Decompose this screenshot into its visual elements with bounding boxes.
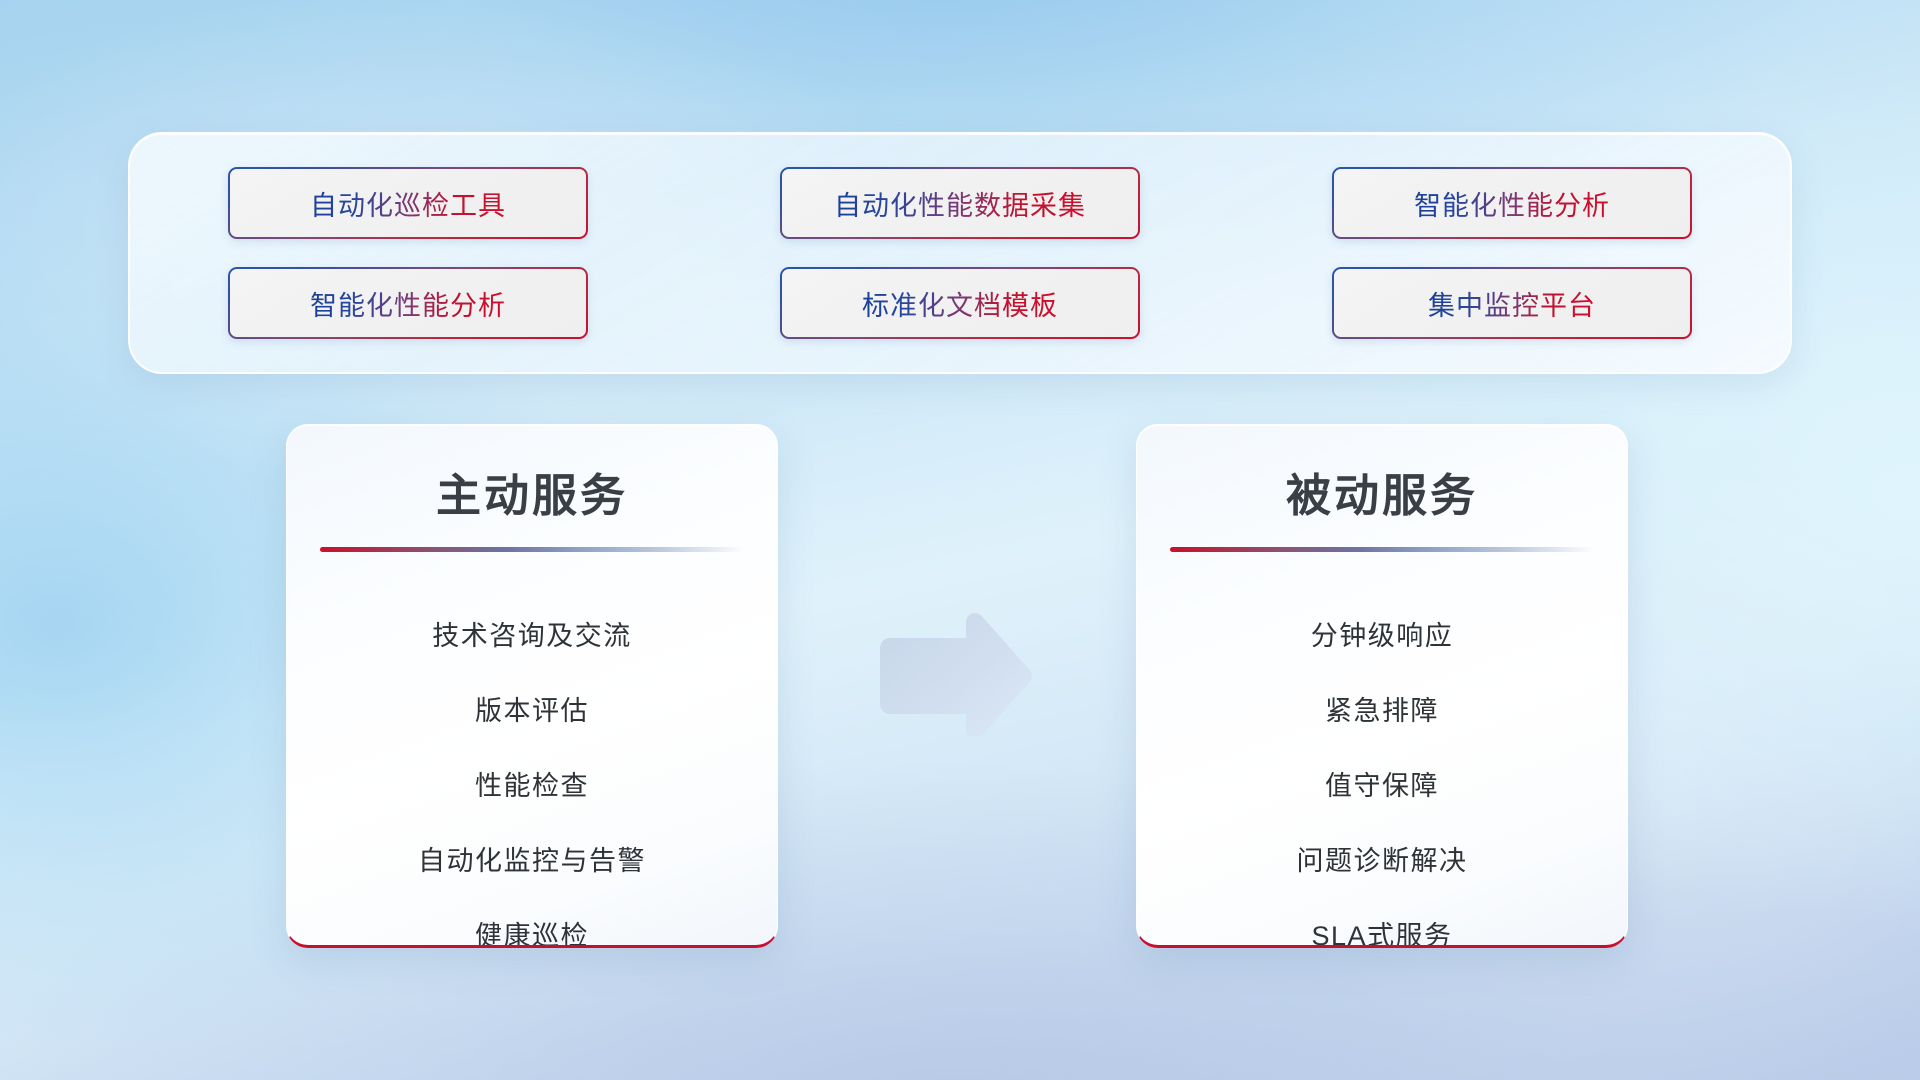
- capability-chip-6[interactable]: 集中监控平台: [1332, 267, 1692, 339]
- capability-chip-label: 智能化性能分析: [1414, 184, 1610, 223]
- list-item: 问题诊断解决: [1137, 821, 1627, 896]
- capability-chip-5[interactable]: 标准化文档模板: [780, 267, 1140, 339]
- capability-chip-grid: 自动化巡检工具 自动化性能数据采集 智能化性能分析 智能化性能分析 标准化文档模…: [224, 160, 1696, 346]
- capability-chip-label: 标准化文档模板: [862, 284, 1058, 323]
- capability-chip-label: 自动化性能数据采集: [834, 184, 1086, 223]
- capability-chip-4[interactable]: 智能化性能分析: [228, 267, 588, 339]
- chip-inner: 智能化性能分析: [1334, 169, 1690, 237]
- capability-chip-1[interactable]: 自动化巡检工具: [228, 167, 588, 239]
- service-item-list: 分钟级响应 紧急排障 值守保障 问题诊断解决 SLA式服务: [1137, 552, 1627, 948]
- capability-chip-label: 集中监控平台: [1428, 284, 1596, 323]
- capability-chip-2[interactable]: 自动化性能数据采集: [780, 167, 1140, 239]
- chip-inner: 自动化巡检工具: [230, 169, 586, 237]
- capability-panel: 自动化巡检工具 自动化性能数据采集 智能化性能分析 智能化性能分析 标准化文档模…: [128, 132, 1792, 374]
- list-item: 性能检查: [287, 746, 777, 821]
- list-item: 技术咨询及交流: [287, 596, 777, 671]
- service-card-proactive: 主动服务 技术咨询及交流 版本评估 性能检查 自动化监控与告警 健康巡检: [286, 424, 778, 948]
- list-item: 自动化监控与告警: [287, 821, 777, 896]
- list-item: 值守保障: [1137, 746, 1627, 821]
- capability-chip-label: 智能化性能分析: [310, 284, 506, 323]
- list-item: 版本评估: [287, 671, 777, 746]
- service-card-reactive: 被动服务 分钟级响应 紧急排障 值守保障 问题诊断解决 SLA式服务: [1136, 424, 1628, 948]
- chip-inner: 自动化性能数据采集: [782, 169, 1138, 237]
- card-title: 主动服务: [287, 459, 777, 524]
- chip-inner: 标准化文档模板: [782, 269, 1138, 337]
- list-item: SLA式服务: [1137, 896, 1627, 948]
- list-item: 健康巡检: [287, 896, 777, 948]
- chip-inner: 集中监控平台: [1334, 269, 1690, 337]
- capability-chip-3[interactable]: 智能化性能分析: [1332, 167, 1692, 239]
- capability-chip-label: 自动化巡检工具: [310, 184, 506, 223]
- list-item: 分钟级响应: [1137, 596, 1627, 671]
- service-item-list: 技术咨询及交流 版本评估 性能检查 自动化监控与告警 健康巡检: [287, 552, 777, 948]
- chip-inner: 智能化性能分析: [230, 269, 586, 337]
- card-title: 被动服务: [1137, 459, 1627, 524]
- list-item: 紧急排障: [1137, 671, 1627, 746]
- flow-arrow-right-icon: [872, 612, 1036, 736]
